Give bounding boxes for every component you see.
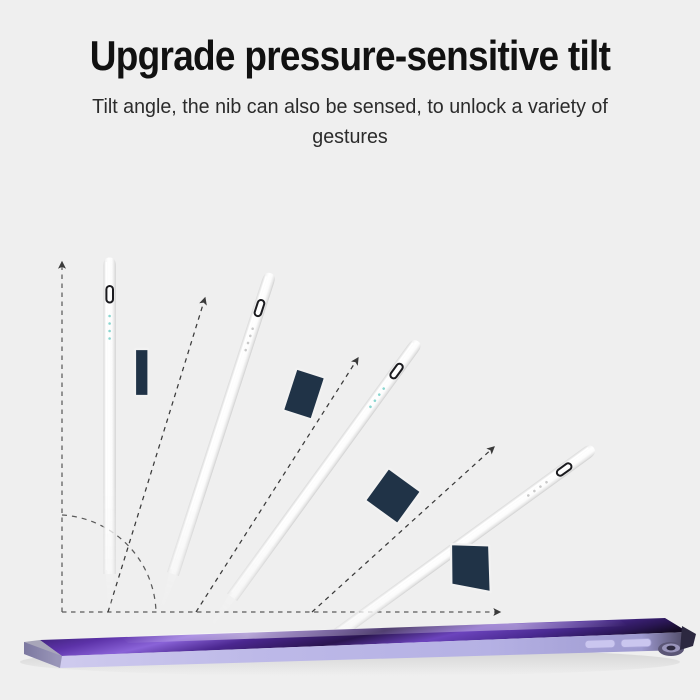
stylus-body: [103, 258, 115, 575]
stylus-nib: [106, 574, 114, 608]
stylus-nib: [209, 595, 235, 627]
led-dot: [108, 315, 111, 318]
stylus-nib: [308, 631, 340, 657]
page-subtitle: Tilt angle, the nib can also be sensed, …: [81, 78, 619, 151]
tilt-diagram-svg: [0, 190, 700, 700]
arrow-tilt-2: [196, 358, 358, 612]
promo-page: Upgrade pressure-sensitive tilt Tilt ang…: [0, 0, 700, 700]
stylus-nib: [159, 573, 177, 608]
led-dot: [108, 337, 111, 340]
header: Upgrade pressure-sensitive tilt Tilt ang…: [0, 0, 700, 152]
stroke-mark-3: [365, 468, 421, 524]
tilt-illustration: [0, 190, 700, 700]
stylus-1: [103, 258, 115, 609]
stroke-mark-2: [283, 368, 325, 419]
page-title: Upgrade pressure-sensitive tilt: [42, 0, 658, 78]
led-dot: [108, 330, 111, 333]
stroke-mark-1: [135, 349, 149, 396]
led-dot: [108, 322, 111, 325]
stylus-highlight: [170, 276, 267, 569]
stroke-mark-4: [445, 540, 497, 592]
arrow-tilt-1: [108, 298, 205, 612]
stylus-highlight: [106, 262, 108, 570]
stylus-highlight: [339, 447, 589, 629]
